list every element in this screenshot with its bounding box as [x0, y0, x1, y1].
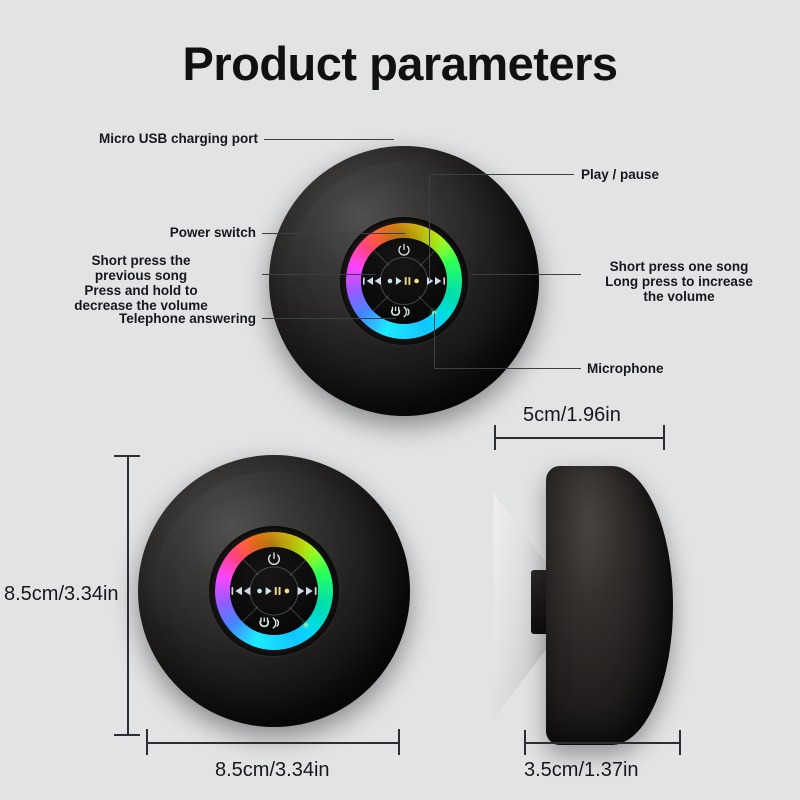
dimension-cap-right	[398, 729, 400, 755]
divider-spoke	[289, 607, 305, 623]
leader-micro-usb	[264, 139, 394, 140]
leader-telephone	[262, 318, 396, 319]
previous-track-icon[interactable]	[363, 275, 383, 287]
callout-telephone-answering: Telephone answering	[30, 311, 256, 326]
page-title: Product parameters	[0, 36, 800, 91]
phone-call-icon[interactable]	[259, 616, 282, 631]
callout-play-pause: Play / pause	[581, 167, 781, 182]
product-parameters-infographic: Product parameters	[0, 0, 800, 800]
leader-play-pause-vertical	[429, 174, 430, 281]
phone-call-icon[interactable]	[390, 305, 412, 319]
callout-next-song: Short press one song Long press to incre…	[581, 259, 777, 304]
next-track-icon[interactable]	[296, 585, 317, 597]
play-pause-icon[interactable]	[387, 276, 421, 287]
callout-micro-usb-charging-port: Micro USB charging port	[30, 131, 258, 146]
dimension-cap-left	[524, 730, 526, 755]
leader-previous-song	[262, 274, 376, 275]
callout-power-switch: Power switch	[30, 225, 256, 240]
power-icon[interactable]	[397, 243, 412, 258]
dimension-cap-top	[114, 455, 140, 457]
dimension-cap-left	[494, 425, 496, 450]
speaker-side-view	[546, 466, 673, 745]
callout-previous-song: Short press the previous song Press and …	[25, 253, 257, 313]
dimension-text-side-width: 5cm/1.96in	[523, 404, 621, 427]
dimension-cap-right	[663, 425, 665, 450]
dimension-line-side-depth	[524, 742, 681, 744]
previous-track-icon[interactable]	[232, 585, 253, 597]
leader-microphone-vertical	[434, 313, 435, 369]
next-track-icon[interactable]	[425, 275, 445, 287]
leader-microphone-horizontal	[434, 368, 581, 369]
callout-microphone: Microphone	[587, 361, 777, 376]
dimension-cap-right	[679, 730, 681, 755]
dimension-text-front-height: 8.5cm/3.34in	[4, 583, 119, 606]
leader-next-song	[471, 274, 581, 275]
dimension-cap-bottom	[114, 734, 140, 736]
dimension-line-front-width	[146, 742, 400, 744]
dimension-cap-left	[146, 729, 148, 755]
leader-play-pause-horizontal	[429, 174, 574, 175]
dimension-line-side-width	[494, 437, 665, 439]
speaker-front-view-bottom	[138, 455, 410, 727]
microphone-dot	[304, 623, 308, 627]
play-pause-icon[interactable]	[257, 586, 292, 597]
dimension-text-side-depth: 3.5cm/1.37in	[524, 759, 639, 782]
dimension-line-front-height	[127, 455, 129, 736]
power-icon[interactable]	[266, 551, 282, 567]
speaker-front-view-top	[269, 146, 539, 416]
dimension-text-front-width: 8.5cm/3.34in	[215, 759, 330, 782]
leader-power-switch	[262, 233, 405, 234]
